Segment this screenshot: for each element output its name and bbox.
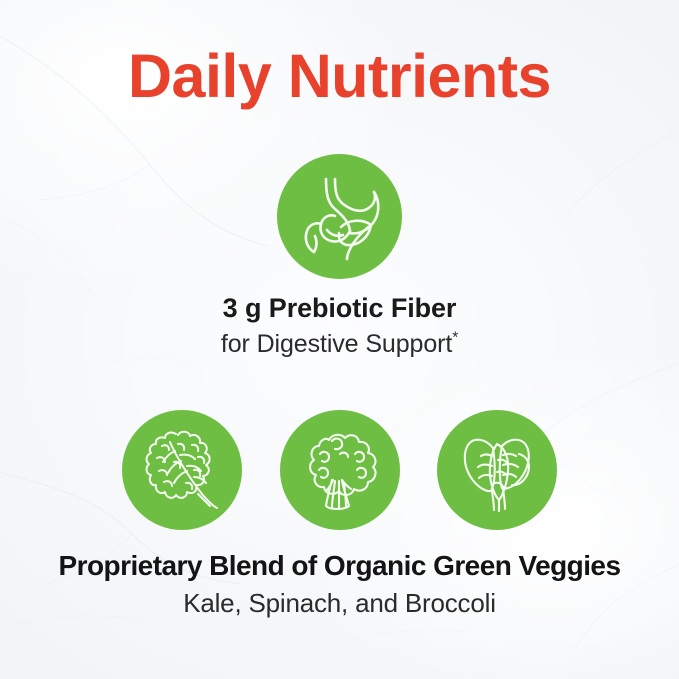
broccoli-icon — [299, 428, 381, 512]
veggie-text-block: Proprietary Blend of Organic Green Veggi… — [0, 548, 679, 621]
fiber-headline: 3 g Prebiotic Fiber — [0, 291, 679, 326]
page-title: Daily Nutrients — [0, 44, 679, 108]
fiber-footnote-marker: * — [452, 329, 458, 346]
kale-leaf-icon — [140, 428, 224, 512]
fiber-text-block: 3 g Prebiotic Fiber for Digestive Suppor… — [0, 291, 679, 360]
kale-icon-circle — [122, 410, 242, 530]
spinach-leaves-icon — [455, 428, 539, 512]
broccoli-icon-circle — [280, 410, 400, 530]
digestive-stomach-leaf-icon — [297, 173, 383, 261]
spinach-icon-circle — [437, 410, 557, 530]
veggie-headline: Proprietary Blend of Organic Green Veggi… — [0, 548, 679, 584]
digestive-icon-circle — [277, 154, 402, 279]
daily-nutrients-poster: Daily Nutrients 3 g Prebiotic Fiber — [0, 0, 679, 679]
fiber-subline-wrapper: for Digestive Support* — [0, 328, 679, 361]
fiber-subline: for Digestive Support — [221, 330, 452, 358]
veggie-subline: Kale, Spinach, and Broccoli — [0, 587, 679, 621]
